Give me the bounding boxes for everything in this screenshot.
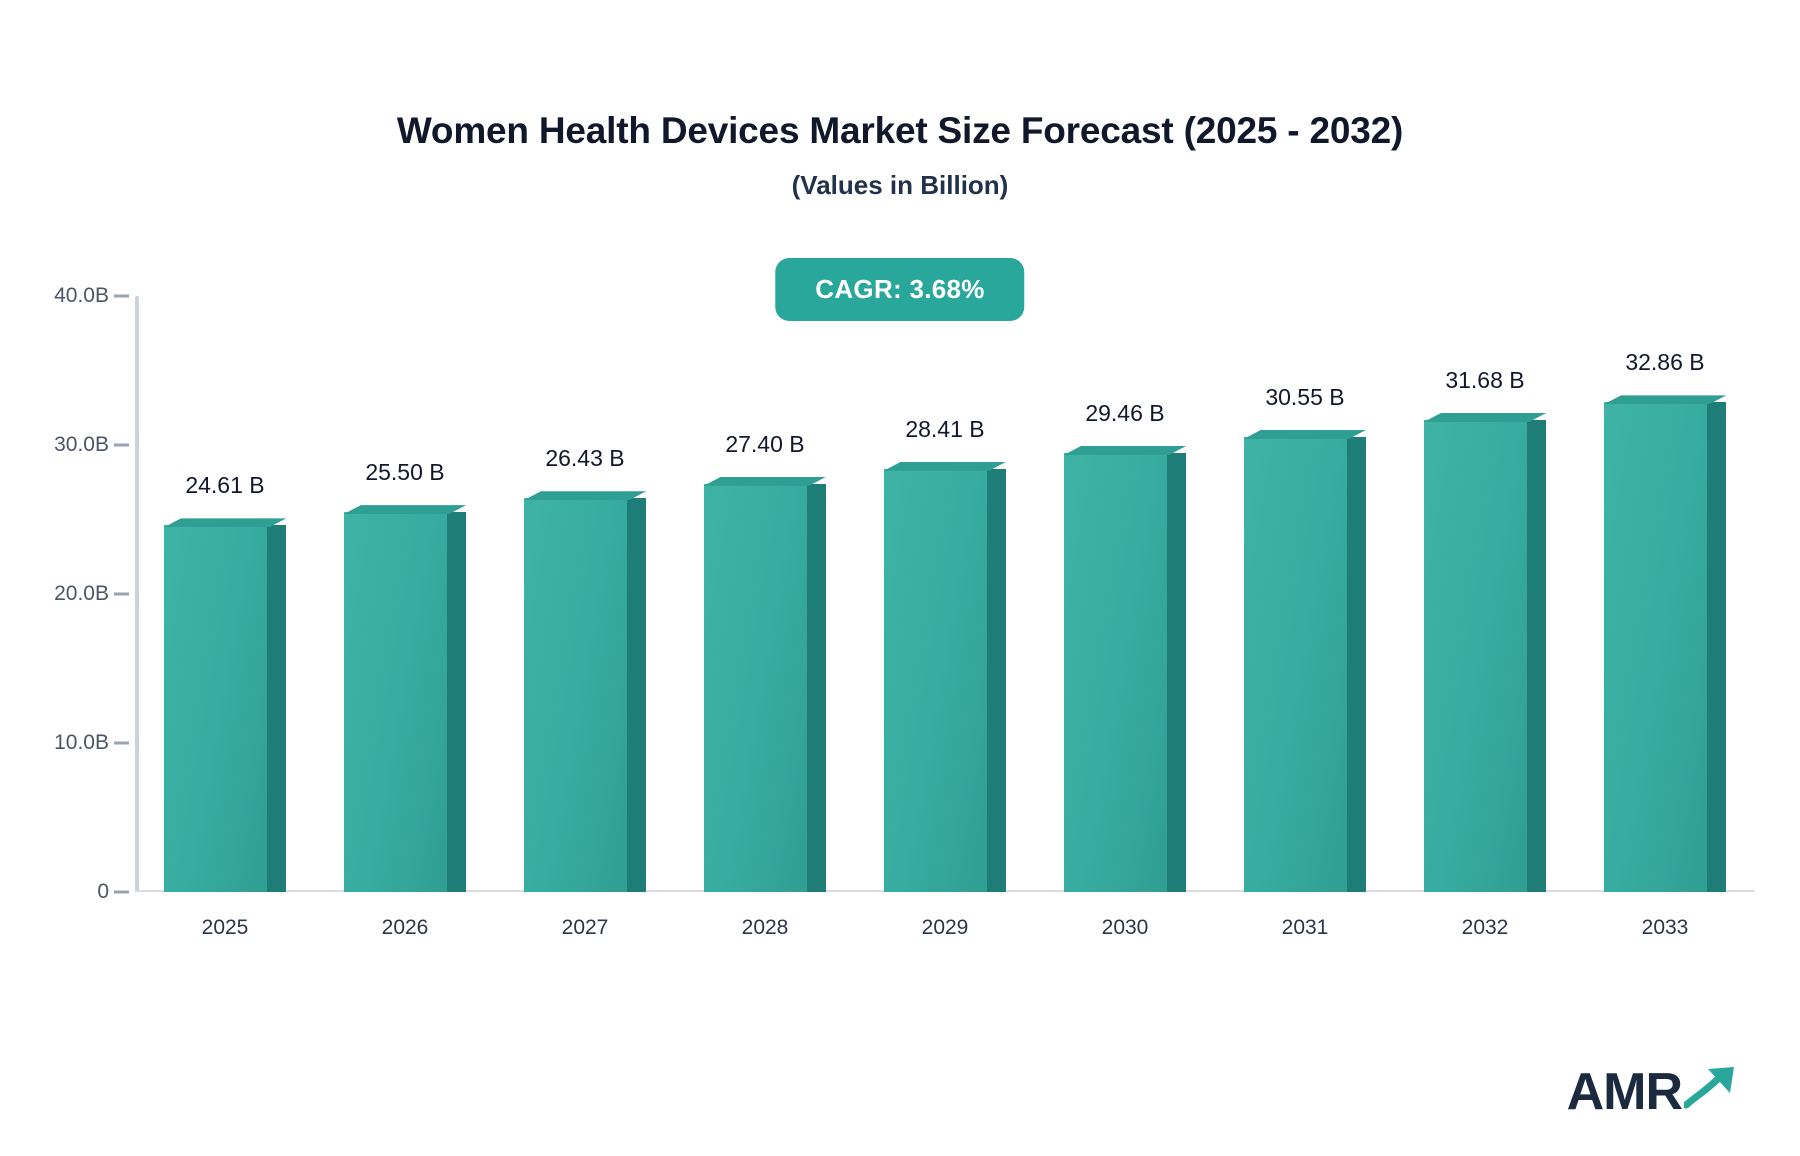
bar-value-label: 29.46 B [1085, 400, 1164, 427]
bar-top-face [1064, 446, 1186, 455]
y-axis-tick-mark [114, 891, 129, 894]
bar[interactable] [1244, 437, 1366, 892]
bar-front-face [1604, 402, 1707, 892]
bar-side-face [1347, 437, 1367, 892]
bar-front-face [704, 484, 807, 892]
chart-page: Women Health Devices Market Size Forecas… [0, 0, 1800, 1156]
bar-group[interactable]: 27.40 B [704, 296, 826, 892]
bar[interactable] [1424, 420, 1546, 892]
x-axis-tick-label: 2029 [922, 916, 969, 940]
y-axis-tick: 20.0B [0, 582, 135, 606]
bar-value-label: 32.86 B [1625, 349, 1704, 376]
bar[interactable] [1604, 402, 1726, 892]
y-axis-tick: 40.0B [0, 284, 135, 308]
page-subtitle: (Values in Billion) [0, 170, 1800, 201]
y-axis-tick: 30.0B [0, 433, 135, 457]
bar-side-face [447, 512, 467, 892]
bar-series: 24.61 B25.50 B26.43 B27.40 B28.41 B29.46… [135, 296, 1755, 892]
bar[interactable] [1064, 453, 1186, 892]
x-axis-tick-label: 2032 [1462, 916, 1509, 940]
x-axis-tick-label: 2026 [382, 916, 429, 940]
y-axis-tick-mark [114, 444, 129, 447]
bar-front-face [1064, 453, 1167, 892]
bar-top-face [1424, 413, 1546, 422]
bar-group[interactable]: 30.55 B [1244, 296, 1366, 892]
amr-logo: AMR [1567, 1065, 1740, 1118]
bar-group[interactable]: 28.41 B [884, 296, 1006, 892]
bar-top-face [164, 518, 286, 527]
x-axis-tick-label: 2030 [1102, 916, 1149, 940]
bar-value-label: 30.55 B [1265, 384, 1344, 411]
bar-side-face [1707, 402, 1727, 892]
bar[interactable] [164, 525, 286, 892]
x-axis-tick-label: 2027 [562, 916, 609, 940]
bar-group[interactable]: 32.86 B [1604, 296, 1726, 892]
bar-top-face [884, 462, 1006, 471]
x-axis-tick-label: 2025 [202, 916, 249, 940]
y-axis-tick: 0 [0, 880, 135, 904]
bar-group[interactable]: 24.61 B [164, 296, 286, 892]
bar-front-face [344, 512, 447, 892]
bar[interactable] [884, 469, 1006, 892]
y-axis-tick-mark [114, 593, 129, 596]
bar-top-face [1604, 395, 1726, 404]
bar-side-face [627, 498, 647, 892]
bar[interactable] [704, 484, 826, 892]
y-axis-tick-mark [114, 742, 129, 745]
bar-value-label: 25.50 B [365, 459, 444, 486]
bar-front-face [1244, 437, 1347, 892]
bar-front-face [524, 498, 627, 892]
bar-group[interactable]: 25.50 B [344, 296, 466, 892]
bar-value-label: 24.61 B [185, 472, 264, 499]
bar-group[interactable]: 29.46 B [1064, 296, 1186, 892]
bar-front-face [164, 525, 267, 892]
bar-top-face [1244, 430, 1366, 439]
bar-top-face [524, 491, 646, 500]
bar-side-face [1527, 420, 1547, 892]
page-title: Women Health Devices Market Size Forecas… [0, 110, 1800, 152]
bar-top-face [704, 477, 826, 486]
bar-side-face [1167, 453, 1187, 892]
growth-arrow-icon [1684, 1065, 1740, 1114]
bar-group[interactable]: 31.68 B [1424, 296, 1546, 892]
y-axis-tick: 10.0B [0, 731, 135, 755]
bar-front-face [1424, 420, 1527, 892]
bar-side-face [987, 469, 1007, 892]
bar-value-label: 26.43 B [545, 445, 624, 472]
bar[interactable] [524, 498, 646, 892]
bar-front-face [884, 469, 987, 892]
bar-value-label: 28.41 B [905, 416, 984, 443]
y-axis-tick-mark [114, 295, 129, 298]
bar-group[interactable]: 26.43 B [524, 296, 646, 892]
x-axis-tick-label: 2033 [1642, 916, 1689, 940]
x-axis-tick-label: 2028 [742, 916, 789, 940]
bar[interactable] [344, 512, 466, 892]
x-axis-tick-label: 2031 [1282, 916, 1329, 940]
bar-value-label: 31.68 B [1445, 367, 1524, 394]
bar-value-label: 27.40 B [725, 431, 804, 458]
plot-area: 40.0B30.0B20.0B10.0B0 24.61 B25.50 B26.4… [135, 296, 1755, 892]
logo-wordmark: AMR [1567, 1066, 1682, 1118]
bar-top-face [344, 505, 466, 514]
bar-side-face [807, 484, 827, 892]
bar-side-face [267, 525, 287, 892]
